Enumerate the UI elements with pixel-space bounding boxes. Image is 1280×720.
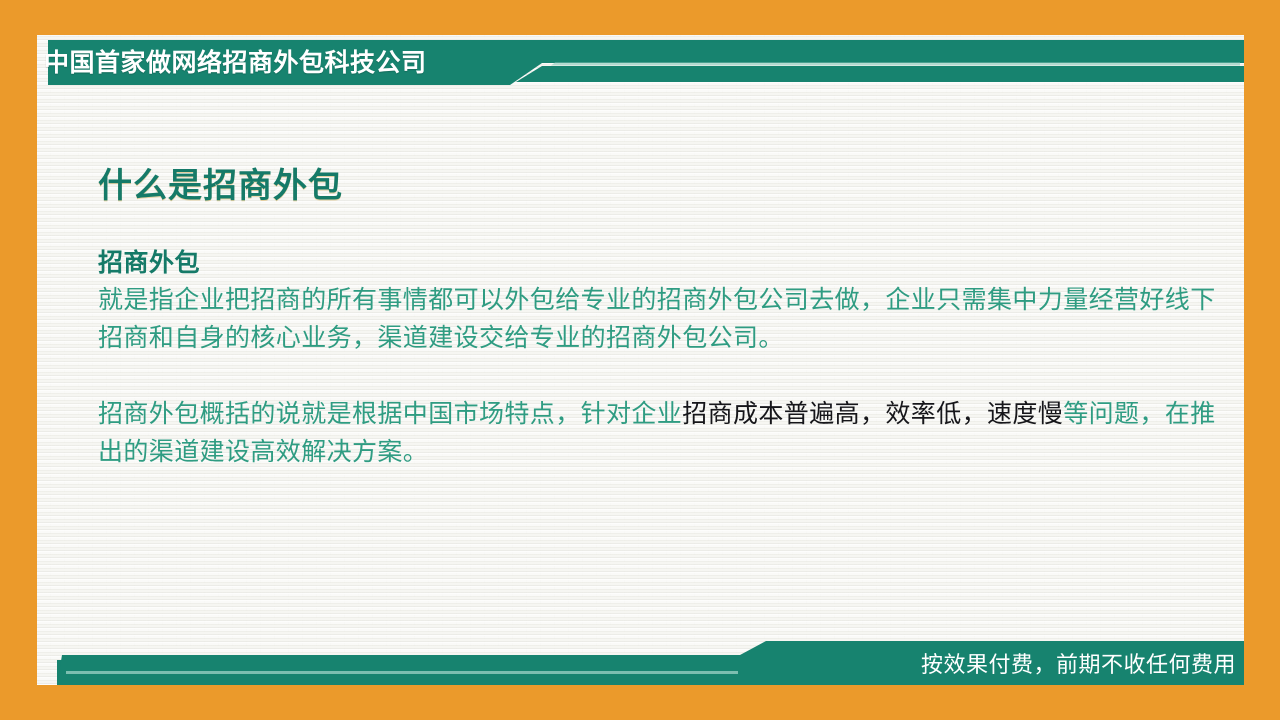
lead-label: 招商外包 (98, 247, 1228, 281)
slide-canvas: 中国首家做网络招商外包科技公司 什么是招商外包 招商外包 就是指企业把招商的所有… (0, 0, 1280, 720)
paragraph-spacer (98, 357, 1228, 395)
paragraph-definition: 就是指企业把招商的所有事情都可以外包给专业的招商外包公司去做，企业只需集中力量经… (98, 281, 1228, 357)
body-content: 什么是招商外包 招商外包 就是指企业把招商的所有事情都可以外包给专业的招商外包公… (98, 168, 1228, 471)
paragraph-summary: 招商外包概括的说就是根据中国市场特点，针对企业招商成本普遍高，效率低，速度慢等问… (98, 395, 1228, 471)
summary-part-a: 招商外包概括的说就是根据中国市场特点，针对企业 (98, 400, 682, 428)
footer-tagline: 按效果付费，前期不收任何费用 (921, 646, 1236, 680)
header-title: 中国首家做网络招商外包科技公司 (44, 43, 564, 78)
summary-highlight: 招商成本普遍高，效率低，速度慢 (682, 400, 1063, 428)
section-heading: 什么是招商外包 (98, 168, 1228, 205)
